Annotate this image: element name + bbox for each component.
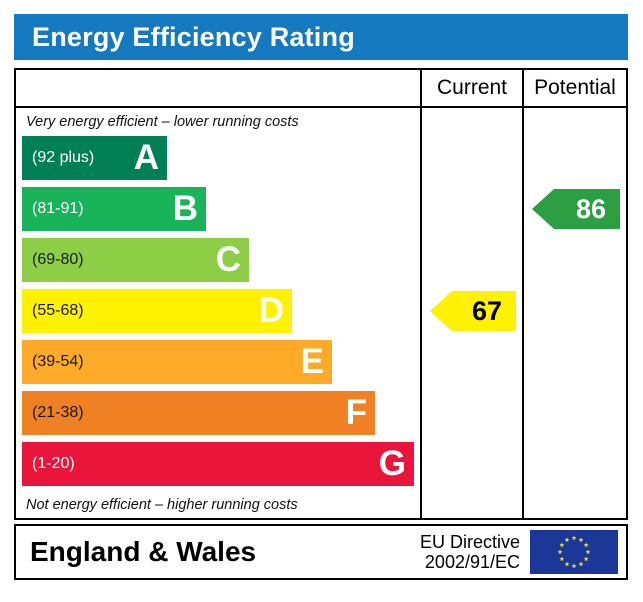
rating-value-potential: 86 [576,196,606,223]
rating-band-d: (55-68)D [22,289,292,333]
band-letter-d: D [259,293,284,328]
caption-very-efficient: Very energy efficient – lower running co… [26,114,416,130]
band-range-b: (81-91) [22,200,84,218]
footer-bar: England & Wales EU Directive 2002/91/EC [14,524,628,580]
band-range-d: (55-68) [22,302,84,320]
rating-band-f: (21-38)F [22,391,375,435]
band-range-c: (69-80) [22,251,84,269]
band-letter-g: G [379,446,406,481]
footer-directive: EU Directive 2002/91/EC [420,532,520,572]
eu-flag-icon [530,530,618,574]
caption-not-efficient: Not energy efficient – higher running co… [26,497,416,513]
band-range-f: (21-38) [22,404,84,422]
column-divider-potential [522,70,524,518]
band-letter-b: B [173,191,198,226]
band-range-e: (39-54) [22,353,84,371]
rating-table: Current Potential Very energy efficient … [14,68,628,520]
band-range-g: (1-20) [22,455,75,473]
chart-title-bar: Energy Efficiency Rating [14,14,628,60]
footer-directive-line2: 2002/91/EC [420,552,520,572]
page-title: Energy Efficiency Rating [14,24,355,51]
energy-efficiency-certificate: Energy Efficiency Rating Current Potenti… [0,0,643,602]
rating-band-e: (39-54)E [22,340,332,384]
band-range-a: (92 plus) [22,149,94,167]
rating-band-g: (1-20)G [22,442,414,486]
band-letter-e: E [301,344,324,379]
rating-band-c: (69-80)C [22,238,249,282]
column-divider-current [420,70,422,518]
rating-arrow-current: 67 [430,291,516,331]
column-header-current: Current [422,70,522,106]
rating-value-current: 67 [472,298,502,325]
rating-band-a: (92 plus)A [22,136,167,180]
rating-band-b: (81-91)B [22,187,206,231]
footer-region-label: England & Wales [30,536,256,568]
footer-directive-line1: EU Directive [420,532,520,552]
band-letter-c: C [216,242,241,277]
column-header-potential: Potential [524,70,626,106]
rating-arrow-potential: 86 [532,189,620,229]
table-header-row: Current Potential [16,70,626,108]
band-letter-a: A [134,140,159,175]
bands-area: Very energy efficient – lower running co… [16,108,420,518]
band-letter-f: F [346,395,367,430]
